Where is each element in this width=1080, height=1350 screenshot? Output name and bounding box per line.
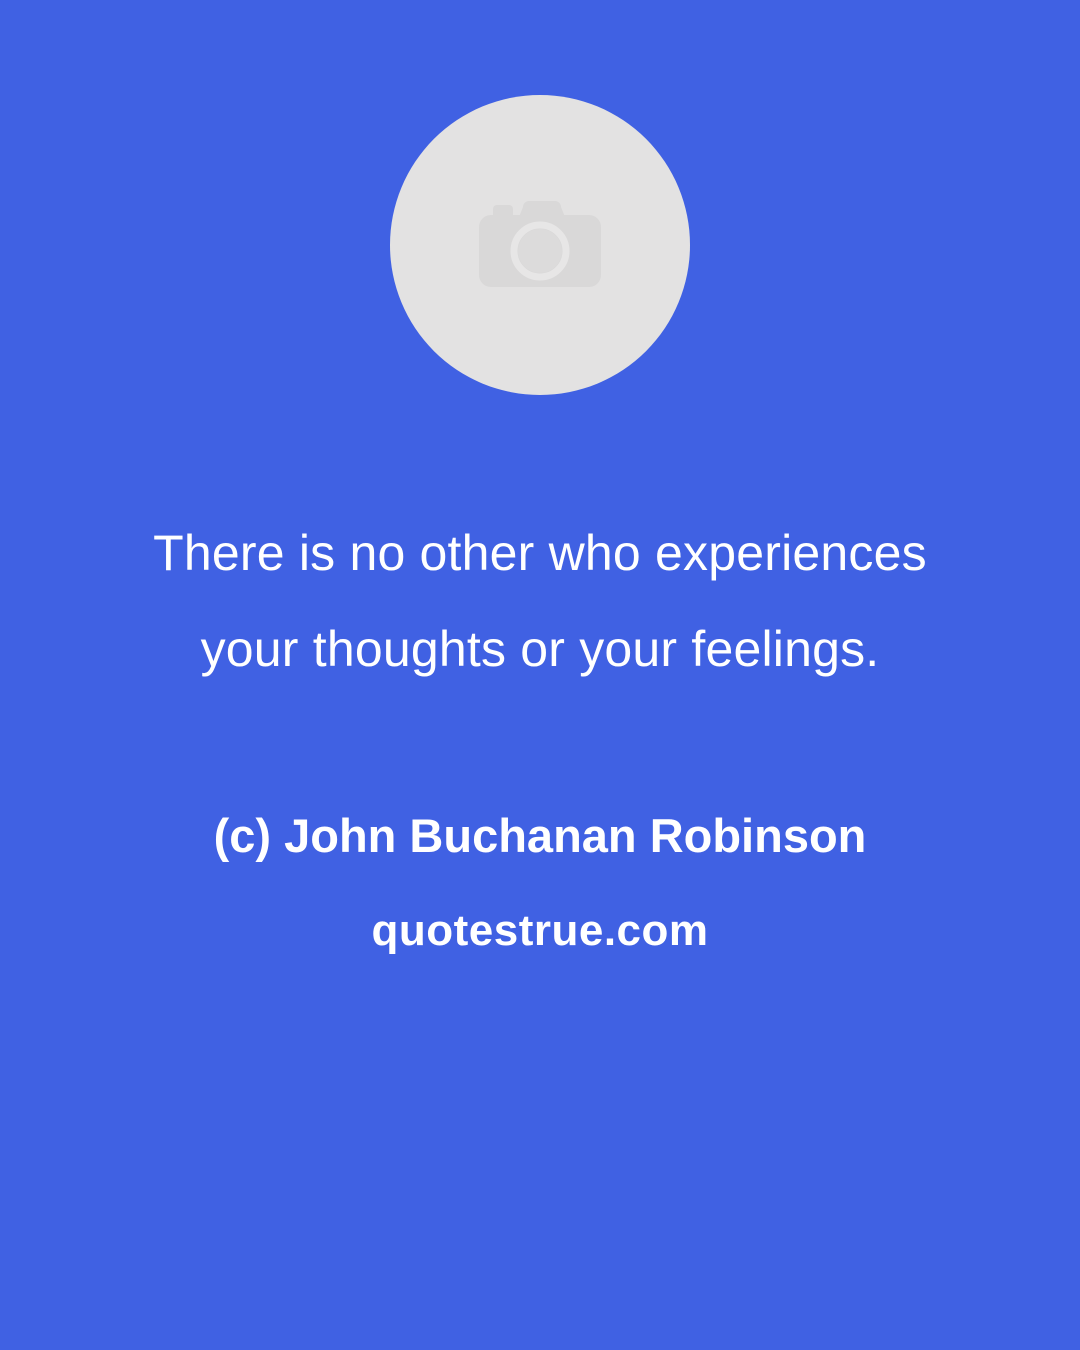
quote-line-2: your thoughts or your feelings. [0,601,1080,697]
quote-line-1: There is no other who experiences [0,505,1080,601]
avatar [390,95,690,395]
quote-text: There is no other who experiences your t… [0,505,1080,697]
site-watermark: quotestrue.com [0,900,1080,962]
quote-attribution: (c) John Buchanan Robinson [0,805,1080,867]
quote-card: There is no other who experiences your t… [0,0,1080,1350]
camera-placeholder-icon [475,195,605,295]
